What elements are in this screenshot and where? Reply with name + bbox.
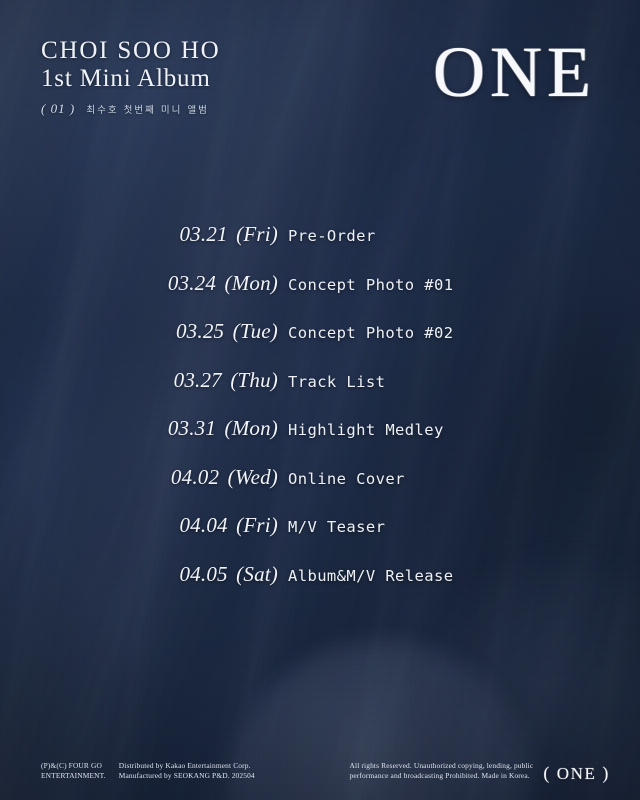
schedule-day-of-week: (Wed)	[228, 465, 278, 489]
album-wordmark-one: ONE	[433, 36, 596, 108]
schedule-date-value: 04.02	[171, 465, 219, 489]
schedule-date-value: 04.04	[179, 513, 227, 537]
schedule-date: 04.02 (Wed)	[0, 465, 278, 490]
schedule-day-of-week: (Mon)	[225, 271, 278, 295]
footer-rights-block: All rights Reserved. Unauthorized copyin…	[350, 761, 534, 782]
schedule-row: 04.05 (Sat) Album&M/V Release	[0, 562, 640, 611]
korean-subtitle: 최수호 첫번째 미니 앨범	[86, 105, 208, 116]
footer-distributor-line: Distributed by Kakao Entertainment Corp.	[119, 761, 255, 772]
schedule-row: 03.25 (Tue) Concept Photo #02	[0, 319, 640, 368]
footer-company-line-2: ENTERTAINMENT.	[41, 771, 106, 782]
schedule-event: Album&M/V Release	[288, 567, 453, 585]
schedule-row: 04.02 (Wed) Online Cover	[0, 465, 640, 514]
album-descriptor: 1st Mini Album	[41, 66, 221, 93]
album-index-mark: ( 01 )	[41, 101, 75, 116]
footer-company-block: (P)&(C) FOUR GO ENTERTAINMENT.	[41, 761, 106, 782]
schedule-date: 03.24 (Mon)	[0, 271, 278, 296]
korean-subtitle-line: ( 01 ) 최수호 첫번째 미니 앨범	[41, 101, 221, 117]
schedule-day-of-week: (Mon)	[225, 416, 278, 440]
schedule-date: 03.25 (Tue)	[0, 319, 278, 344]
poster-footer: (P)&(C) FOUR GO ENTERTAINMENT. Distribut…	[0, 761, 640, 782]
footer-badge-open-paren: (	[543, 763, 551, 783]
schedule-day-of-week: (Sat)	[236, 562, 278, 586]
schedule-row: 03.24 (Mon) Concept Photo #01	[0, 271, 640, 320]
footer-company-line-1: (P)&(C) FOUR GO	[41, 761, 106, 772]
album-schedule-poster: CHOI SOO HO 1st Mini Album ( 01 ) 최수호 첫번…	[0, 0, 640, 800]
schedule-day-of-week: (Tue)	[233, 319, 278, 343]
schedule-date-value: 03.25	[176, 319, 224, 343]
schedule-date-value: 03.21	[179, 222, 227, 246]
schedule-event: Concept Photo #01	[288, 276, 453, 294]
footer-one-badge: ( ONE )	[543, 763, 610, 784]
schedule-row: 04.04 (Fri) M/V Teaser	[0, 513, 640, 562]
schedule-date-value: 03.24	[168, 271, 216, 295]
schedule-date-value: 04.05	[179, 562, 227, 586]
schedule-date: 04.04 (Fri)	[0, 513, 278, 538]
schedule-day-of-week: (Fri)	[236, 513, 278, 537]
schedule-event: Concept Photo #02	[288, 324, 453, 342]
footer-badge-text: ONE	[557, 764, 597, 783]
schedule-date: 03.21 (Fri)	[0, 222, 278, 247]
schedule-day-of-week: (Thu)	[230, 368, 278, 392]
schedule-date: 03.27 (Thu)	[0, 368, 278, 393]
artist-title-block: CHOI SOO HO 1st Mini Album ( 01 ) 최수호 첫번…	[41, 38, 221, 117]
footer-manufacturer-line: Manufactured by SEOKANG P&D. 202504	[119, 771, 255, 782]
schedule-event: Pre-Order	[288, 227, 376, 245]
schedule-row: 03.21 (Fri) Pre-Order	[0, 222, 640, 271]
poster-header: CHOI SOO HO 1st Mini Album ( 01 ) 최수호 첫번…	[0, 0, 640, 170]
footer-rights-line-1: All rights Reserved. Unauthorized copyin…	[350, 761, 534, 772]
schedule-event: Highlight Medley	[288, 421, 444, 439]
schedule-day-of-week: (Fri)	[236, 222, 278, 246]
artist-name: CHOI SOO HO	[41, 38, 221, 65]
promotion-schedule-list: 03.21 (Fri) Pre-Order 03.24 (Mon) Concep…	[0, 222, 640, 610]
schedule-row: 03.27 (Thu) Track List	[0, 368, 640, 417]
footer-distribution-block: Distributed by Kakao Entertainment Corp.…	[119, 761, 255, 782]
footer-badge-close-paren: )	[602, 763, 610, 783]
schedule-event: Online Cover	[288, 470, 405, 488]
schedule-date-value: 03.31	[168, 416, 216, 440]
footer-rights-line-2: performance and broadcasting Prohibited.…	[350, 771, 534, 782]
schedule-date-value: 03.27	[174, 368, 222, 392]
schedule-event: M/V Teaser	[288, 518, 385, 536]
schedule-date: 04.05 (Sat)	[0, 562, 278, 587]
schedule-row: 03.31 (Mon) Highlight Medley	[0, 416, 640, 465]
schedule-event: Track List	[288, 373, 385, 391]
schedule-date: 03.31 (Mon)	[0, 416, 278, 441]
